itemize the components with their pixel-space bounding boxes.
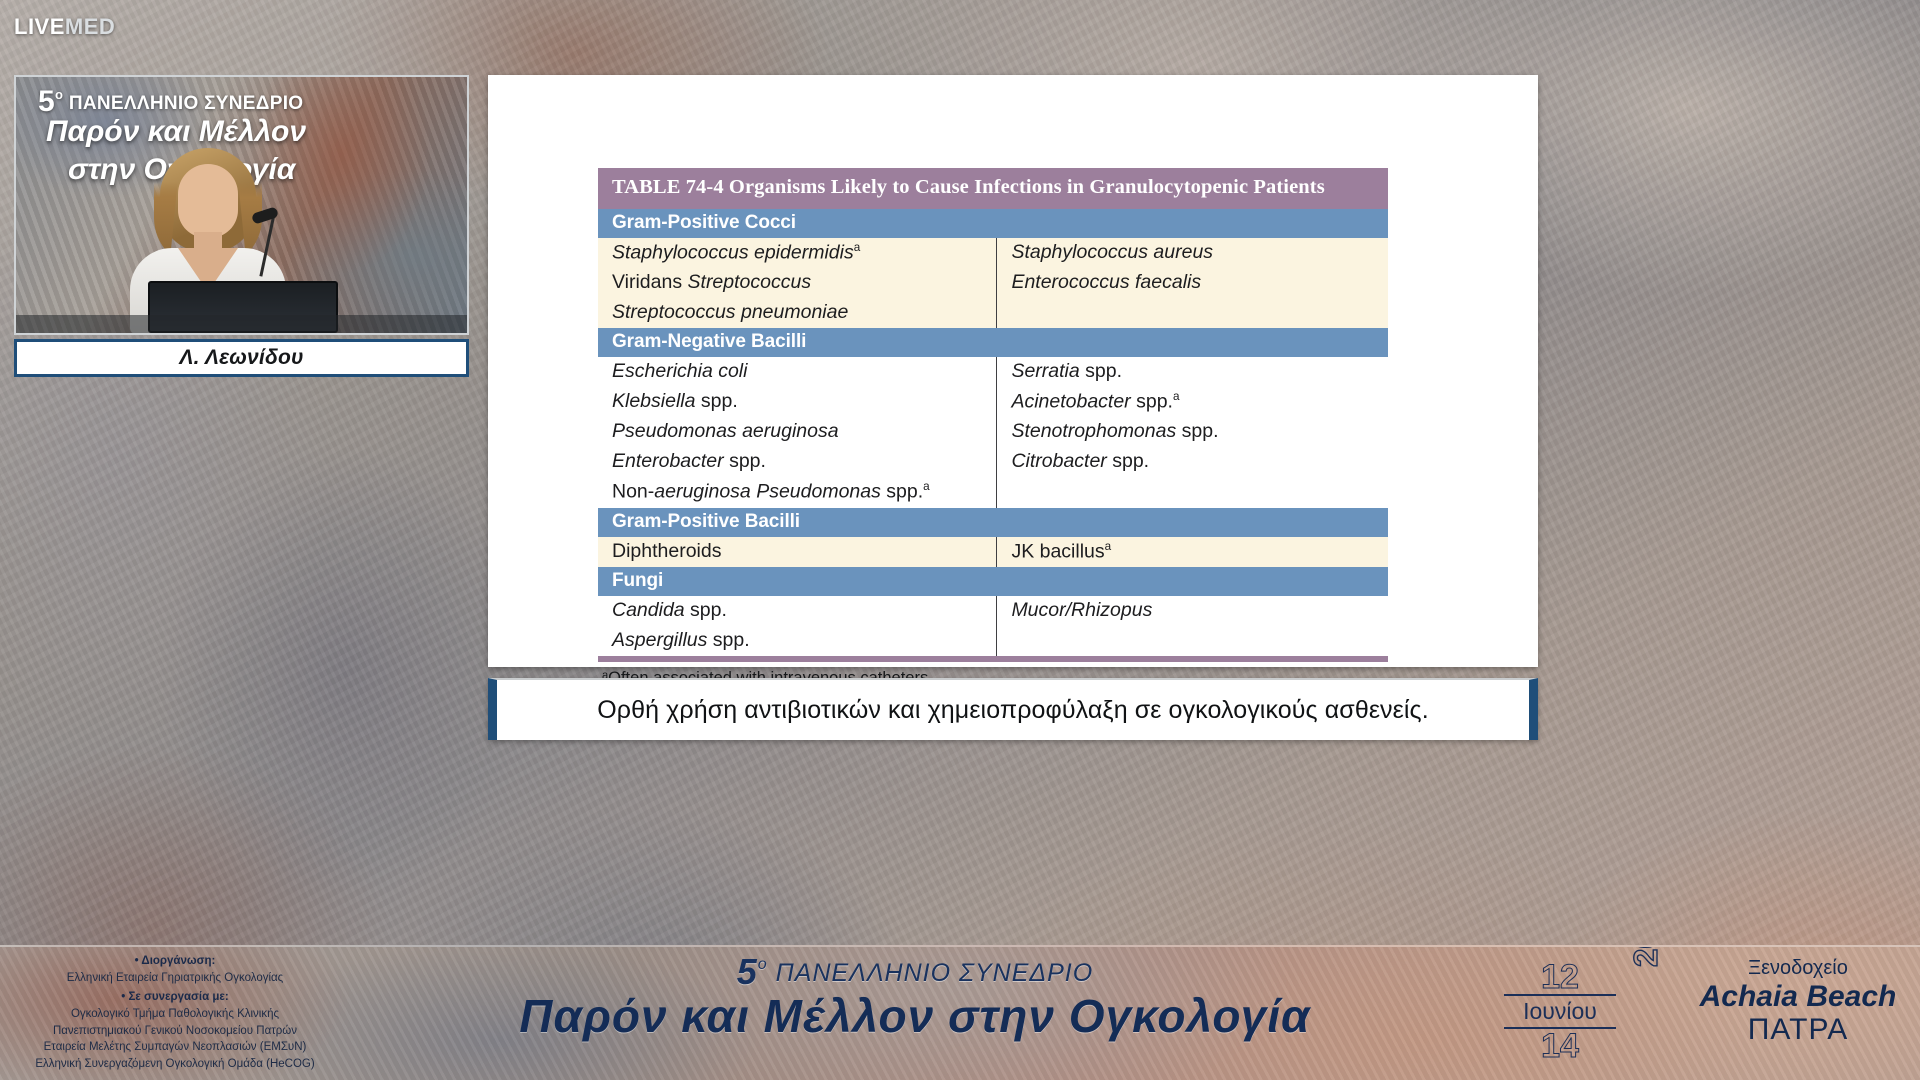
organizers-block: • Διοργάνωση: Ελληνική Εταιρεία Γηριατρι…	[0, 953, 350, 1073]
table-cell-right: Stenotrophomonas spp.	[997, 417, 1388, 447]
conference-line1: ΠΑΝΕΛΛΗΝΙΟ ΣΥΝΕΔΡΙΟ	[776, 959, 1094, 987]
table-cell-left: Diphtheroids	[598, 537, 997, 567]
table-cell-left: Enterobacter spp.	[598, 447, 997, 477]
table-cell-left: Klebsiella spp.	[598, 387, 997, 417]
table-row: DiphtheroidsJK bacillusa	[598, 537, 1388, 567]
organisms-table: TABLE 74-4 Organisms Likely to Cause Inf…	[598, 168, 1388, 656]
table-cell-right: Staphylococcus aureus	[997, 238, 1388, 268]
table-cell-right	[997, 298, 1388, 328]
table-cell-left: Candida spp.	[598, 596, 997, 626]
table-row: Non-aeruginosa Pseudomonas spp.a	[598, 477, 1388, 507]
table-cell-left: Streptococcus pneumoniae	[598, 298, 997, 328]
table-section-header-row: Gram-Negative Bacilli	[598, 328, 1388, 357]
date-day-to: 14	[1500, 1030, 1620, 1062]
table-section-header-row: Fungi	[598, 567, 1388, 596]
table-cell-right: Acinetobacter spp.a	[997, 387, 1388, 417]
video-overlay-conference-line: 5ο ΠΑΝΕΛΛΗΝΙΟ ΣΥΝΕΔΡΙΟ	[38, 85, 303, 119]
table-cell-right	[997, 477, 1388, 507]
table-cell-right: JK bacillusa	[997, 537, 1388, 567]
conference-date-block: 12 Ιουνίου 14	[1500, 961, 1620, 1062]
video-overlay-number: 5	[38, 85, 55, 118]
table-cell-left: Pseudomonas aeruginosa	[598, 417, 997, 447]
table-row: Pseudomonas aeruginosaStenotrophomonas s…	[598, 417, 1388, 447]
table-row: Viridans StreptococcusEnterococcus faeca…	[598, 268, 1388, 298]
logo-med-text: MED	[65, 14, 115, 39]
organizer-name: Ελληνική Εταιρεία Γηριατρικής Ογκολογίας	[0, 970, 350, 987]
table-row: Escherichia coliSerratia spp.	[598, 357, 1388, 387]
table-section-header-row: Gram-Positive Bacilli	[598, 508, 1388, 537]
collaborator-1: Ογκολογικό Τμήμα Παθολογικής Κλινικής	[0, 1006, 350, 1023]
organizer-label: • Διοργάνωση:	[0, 953, 350, 970]
collaborator-4: Ελληνική Συνεργαζόμενη Ογκολογική Ομάδα …	[0, 1056, 350, 1073]
speaker-panel: 5ο ΠΑΝΕΛΛΗΝΙΟ ΣΥΝΕΔΡΙΟ Παρόν και Μέλλον …	[14, 75, 469, 377]
table-cell-left: Viridans Streptococcus	[598, 268, 997, 298]
conference-year: 2025	[1627, 945, 1665, 967]
venue-block: Ξενοδοχείο Achaia Beach ΠΑΤΡΑ	[1680, 957, 1916, 1047]
table-row: Klebsiella spp.Acinetobacter spp.a	[598, 387, 1388, 417]
table-cell-right: Serratia spp.	[997, 357, 1388, 387]
speaker-video-feed[interactable]: 5ο ΠΑΝΕΛΛΗΝΙΟ ΣΥΝΕΔΡΙΟ Παρόν και Μέλλον …	[14, 75, 469, 335]
collaborator-3: Εταιρεία Μελέτης Συμπαγών Νεοπλασιών (ΕΜ…	[0, 1039, 350, 1056]
slide-table-container: TABLE 74-4 Organisms Likely to Cause Inf…	[598, 168, 1388, 688]
table-section-heading: Fungi	[598, 567, 1388, 596]
livemed-logo: LIVEMED	[14, 14, 115, 40]
table-cell-left: Aspergillus spp.	[598, 626, 997, 656]
venue-label: Ξενοδοχείο	[1680, 957, 1916, 980]
podium-desk	[16, 315, 467, 333]
speaker-name: Λ. Λεωνίδου	[179, 346, 303, 370]
speaker-name-bar: Λ. Λεωνίδου	[14, 339, 469, 377]
collaborators-label: • Σε συνεργασία με:	[0, 989, 350, 1006]
table-cell-right	[997, 626, 1388, 656]
table-section-heading: Gram-Positive Bacilli	[598, 508, 1388, 537]
conference-line2: Παρόν και Μέλλον στην Ογκολογία	[355, 989, 1475, 1043]
table-cell-left: Staphylococcus epidermidisa	[598, 238, 997, 268]
logo-live-text: LIVE	[14, 14, 65, 39]
venue-city: ΠΑΤΡΑ	[1680, 1013, 1916, 1047]
table-cell-left: Non-aeruginosa Pseudomonas spp.a	[598, 477, 997, 507]
table-row: Candida spp.Mucor/Rhizopus	[598, 596, 1388, 626]
table-title-row: TABLE 74-4 Organisms Likely to Cause Inf…	[598, 168, 1388, 209]
conference-title-block: 5ο ΠΑΝΕΛΛΗΝΙΟ ΣΥΝΕΔΡΙΟ Παρόν και Μέλλον …	[355, 951, 1475, 1043]
conference-subtitle-line: 5ο ΠΑΝΕΛΛΗΝΙΟ ΣΥΝΕΔΡΙΟ	[355, 951, 1475, 993]
table-section-heading: Gram-Positive Cocci	[598, 209, 1388, 238]
table-title: TABLE 74-4 Organisms Likely to Cause Inf…	[598, 168, 1388, 209]
conference-number: 5	[737, 951, 758, 992]
table-row: Staphylococcus epidermidisaStaphylococcu…	[598, 238, 1388, 268]
speaker-face	[178, 164, 238, 238]
venue-name: Achaia Beach	[1680, 980, 1916, 1013]
table-section-header-row: Gram-Positive Cocci	[598, 209, 1388, 238]
video-overlay-line1: ΠΑΝΕΛΛΗΝΙΟ ΣΥΝΕΔΡΙΟ	[69, 93, 304, 114]
table-cell-right: Mucor/Rhizopus	[997, 596, 1388, 626]
slide-caption-text: Ορθή χρήση αντιβιοτικών και χημειοπροφύλ…	[597, 696, 1429, 725]
table-row: Streptococcus pneumoniae	[598, 298, 1388, 328]
table-row: Enterobacter spp.Citrobacter spp.	[598, 447, 1388, 477]
video-overlay-line2: Παρόν και Μέλλον	[46, 115, 306, 150]
conference-ordinal: ο	[758, 956, 768, 973]
table-cell-left: Escherichia coli	[598, 357, 997, 387]
date-day-from: 12	[1500, 961, 1620, 993]
video-overlay-ordinal: ο	[55, 87, 63, 102]
collaborator-2: Πανεπιστημιακού Γενικού Νοσοκομείου Πατρ…	[0, 1023, 350, 1040]
table-section-heading: Gram-Negative Bacilli	[598, 328, 1388, 357]
presentation-slide[interactable]: TABLE 74-4 Organisms Likely to Cause Inf…	[488, 75, 1538, 667]
conference-footer-banner: • Διοργάνωση: Ελληνική Εταιρεία Γηριατρι…	[0, 945, 1920, 1080]
date-month: Ιουνίου	[1500, 997, 1620, 1026]
table-cell-right: Enterococcus faecalis	[997, 268, 1388, 298]
table-row: Aspergillus spp.	[598, 626, 1388, 656]
slide-caption-bar: Ορθή χρήση αντιβιοτικών και χημειοπροφύλ…	[488, 678, 1538, 740]
table-cell-right: Citrobacter spp.	[997, 447, 1388, 477]
